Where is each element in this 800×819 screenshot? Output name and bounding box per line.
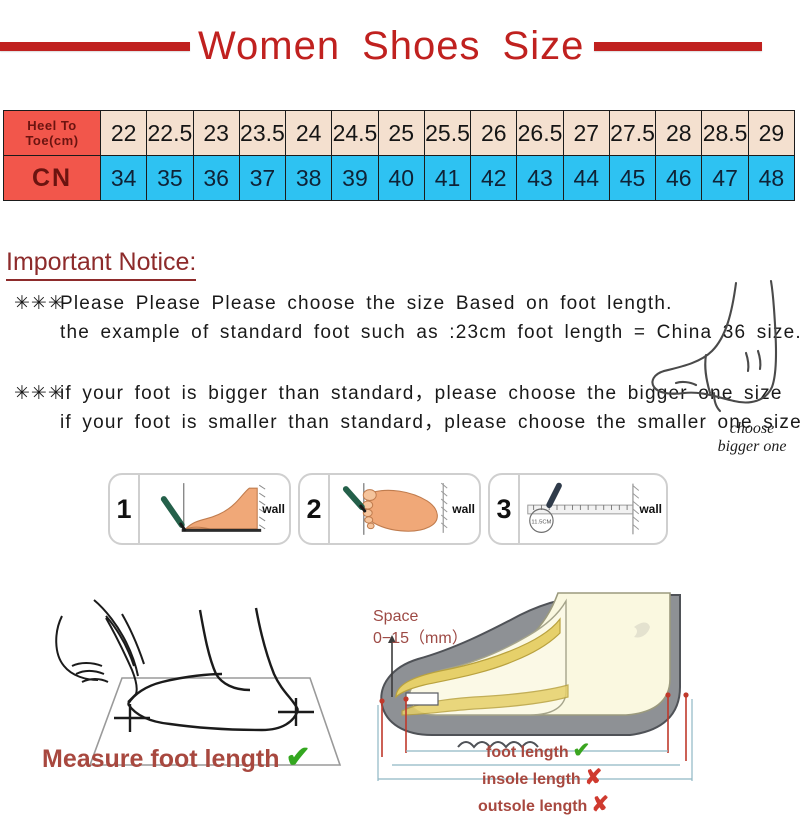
legend-outsole-length-cross-icon: ✘: [591, 793, 609, 816]
measuring-steps-strip: 1 wall 2: [108, 473, 668, 541]
step-number-3: 3: [490, 475, 520, 543]
cell-cn-6: 40: [378, 156, 424, 201]
cell-cn-3: 37: [239, 156, 285, 201]
cell-cn-0: 34: [101, 156, 147, 201]
step-3-wall-label: wall: [639, 502, 662, 516]
step-1-wall-label: wall: [262, 502, 285, 516]
legend-foot-length-text: foot length: [486, 744, 569, 761]
cell-cm-8: 26: [471, 111, 517, 156]
cell-cm-12: 28: [656, 111, 702, 156]
step-number-2: 2: [300, 475, 330, 543]
step-1-illustration: wall: [140, 475, 289, 543]
space-gap-label: Space 0−15（mm）: [373, 606, 468, 649]
notice-line-1: ✳✳✳Please Please Please choose the size …: [14, 292, 673, 315]
title-rule-left: [0, 42, 190, 51]
cell-cm-9: 26.5: [517, 111, 563, 156]
notice-line-1-text: Please Please Please choose the size Bas…: [60, 293, 673, 314]
page-title-word-3: Size: [503, 24, 585, 68]
step-panel-3: 3: [488, 473, 668, 545]
page-title: WomenShoesSize: [198, 24, 584, 68]
length-legend: foot length✔ insole length✘ outsole leng…: [478, 738, 748, 819]
measure-check-icon: ✔: [286, 741, 311, 774]
choose-caption-line-2: bigger one: [692, 438, 800, 456]
size-conversion-table: Heel To Toe(cm) 22 22.5 23 23.5 24 24.5 …: [3, 110, 795, 201]
foot-profile-sketch-icon: [640, 275, 800, 435]
cell-cm-14: 29: [748, 111, 794, 156]
shoe-size-chart-page: WomenShoesSize Heel To Toe(cm) 22 22.5 2…: [0, 0, 800, 800]
step-panel-1: 1 wall: [108, 473, 291, 545]
cell-cm-2: 23: [193, 111, 239, 156]
cell-cn-13: 47: [702, 156, 748, 201]
cell-cm-4: 24: [286, 111, 332, 156]
page-title-row: WomenShoesSize: [0, 18, 800, 74]
cell-cn-5: 39: [332, 156, 378, 201]
legend-outsole-length-text: outsole length: [478, 798, 587, 815]
legend-foot-length-check-icon: ✔: [573, 739, 591, 762]
row-header-heel-to-toe: Heel To Toe(cm): [4, 111, 101, 156]
cell-cm-1: 22.5: [147, 111, 193, 156]
legend-insole-length-text: insole length: [482, 771, 581, 788]
legend-insole-length-cross-icon: ✘: [585, 766, 603, 789]
cell-cn-7: 41: [424, 156, 470, 201]
legend-insole-length: insole length✘: [482, 765, 748, 792]
step-panel-2: 2: [298, 473, 481, 545]
page-title-word-1: Women: [198, 24, 340, 68]
step-2-wall-label: wall: [452, 502, 475, 516]
notice-bullet-stars-2: ✳✳✳: [14, 382, 60, 405]
step-number-1: 1: [110, 475, 140, 543]
cell-cn-11: 45: [609, 156, 655, 201]
space-label-line-1: Space: [373, 606, 468, 628]
cell-cn-4: 38: [286, 156, 332, 201]
legend-outsole-length: outsole length✘: [478, 792, 748, 819]
cell-cn-10: 44: [563, 156, 609, 201]
ruler-badge-text: 11.5CM: [531, 520, 551, 526]
cell-cm-3: 23.5: [239, 111, 285, 156]
cell-cn-8: 42: [471, 156, 517, 201]
cell-cm-6: 25: [378, 111, 424, 156]
notice-bullet-stars-1: ✳✳✳: [14, 292, 60, 315]
cell-cn-12: 46: [656, 156, 702, 201]
cell-cn-1: 35: [147, 156, 193, 201]
legend-foot-length: foot length✔: [486, 738, 748, 765]
table-row-cn: CN 34 35 36 37 38 39 40 41 42 43 44 45 4…: [4, 156, 795, 201]
cell-cn-9: 43: [517, 156, 563, 201]
step-3-illustration: 11.5CM wall: [520, 475, 666, 543]
cell-cn-14: 48: [748, 156, 794, 201]
important-notice-heading: Important Notice:: [6, 248, 196, 281]
choose-caption-line-1: choose: [692, 420, 800, 438]
space-label-line-2: 0−15（mm）: [373, 628, 468, 650]
choose-bigger-one-caption: choose bigger one: [692, 420, 800, 457]
cell-cm-5: 24.5: [332, 111, 378, 156]
cell-cn-2: 36: [193, 156, 239, 201]
cell-cm-11: 27.5: [609, 111, 655, 156]
page-title-word-2: Shoes: [362, 24, 480, 68]
step-2-illustration: wall: [330, 475, 479, 543]
cell-cm-13: 28.5: [702, 111, 748, 156]
measure-foot-length-caption-row: Measure foot length✔: [42, 740, 311, 775]
cell-cm-7: 25.5: [424, 111, 470, 156]
measure-foot-length-caption: Measure foot length: [42, 745, 280, 773]
title-rule-right: [594, 42, 762, 51]
cell-cm-0: 22: [101, 111, 147, 156]
table-row-cm: Heel To Toe(cm) 22 22.5 23 23.5 24 24.5 …: [4, 111, 795, 156]
cell-cm-10: 27: [563, 111, 609, 156]
row-header-cn: CN: [4, 156, 101, 201]
